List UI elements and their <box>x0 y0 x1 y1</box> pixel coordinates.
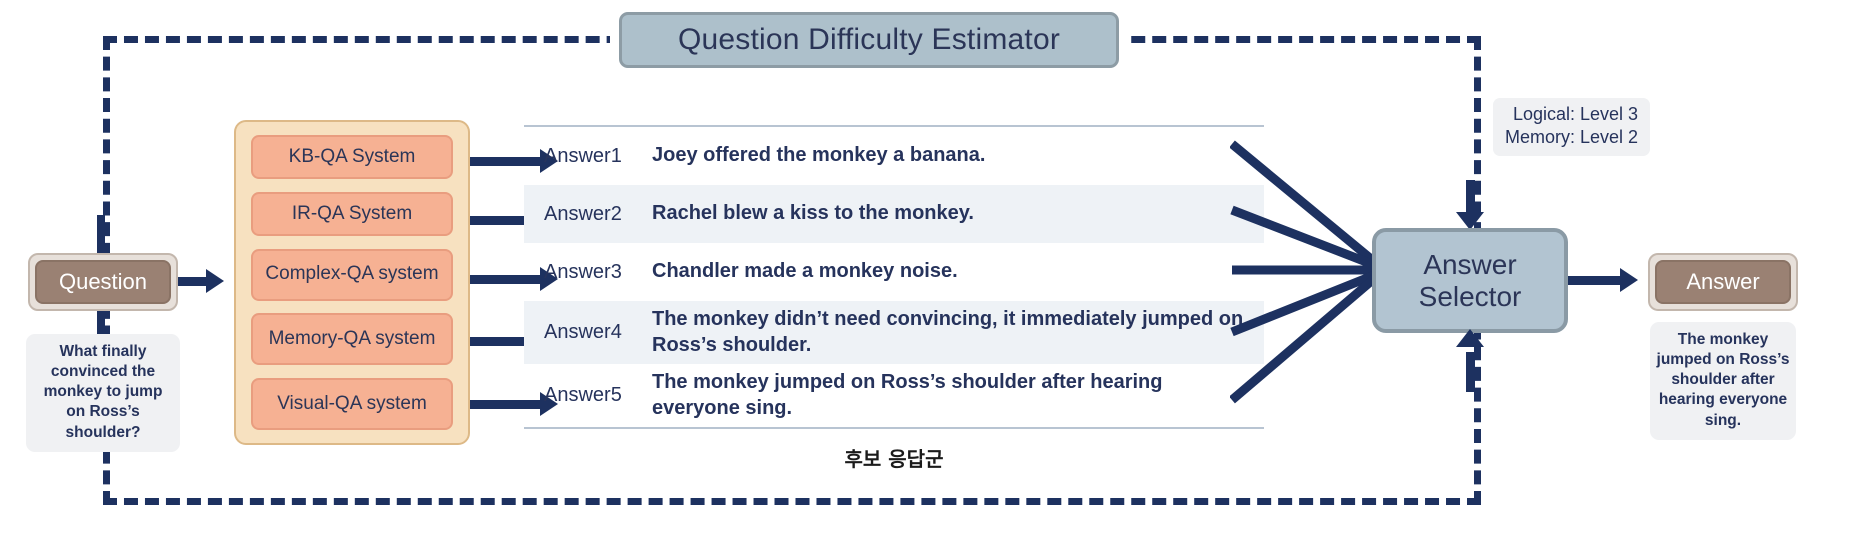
table-row[interactable]: Answer2 Rachel blew a kiss to the monkey… <box>524 185 1264 243</box>
answer-id: Answer1 <box>524 145 652 168</box>
converge-line-4 <box>1232 272 1382 332</box>
answer-text-callout: The monkey jumped on Ross’s shoulder aft… <box>1650 322 1796 440</box>
qa-system-ir[interactable]: IR-QA System <box>251 192 453 236</box>
difficulty-level-badge: Logical: Level 3 Memory: Level 2 <box>1493 98 1650 156</box>
question-text-callout: What finally convinced the monkey to jum… <box>26 334 180 452</box>
qa-system-complex[interactable]: Complex-QA system <box>251 249 453 301</box>
arrow-selector-to-answer-head <box>1620 268 1638 292</box>
table-row[interactable]: Answer1 Joey offered the monkey a banana… <box>524 127 1264 185</box>
answer-text: The monkey jumped on Ross’s shoulder aft… <box>652 370 1264 421</box>
page-title: Question Difficulty Estimator <box>678 23 1060 57</box>
answer-id: Answer2 <box>524 203 652 226</box>
answer-selector-label-line1: Answer <box>1423 249 1516 281</box>
converge-line-1 <box>1232 144 1382 268</box>
converge-line-2 <box>1232 210 1382 268</box>
arrow-question-to-systems-head <box>206 269 224 293</box>
table-rule-bottom <box>524 427 1264 429</box>
difficulty-memory-level: Memory: Level 2 <box>1505 126 1638 149</box>
converge-line-5 <box>1232 272 1382 400</box>
candidate-answers-table: Answer1 Joey offered the monkey a banana… <box>524 125 1264 429</box>
qa-system-visual[interactable]: Visual-QA system <box>251 378 453 430</box>
answer-text: Chandler made a monkey noise. <box>652 259 1264 285</box>
answer-text: Rachel blew a kiss to the monkey. <box>652 201 1264 227</box>
answer-id: Answer4 <box>524 321 652 344</box>
answer-selector-node[interactable]: Answer Selector <box>1372 228 1568 333</box>
qa-systems-bank: KB-QA System IR-QA System Complex-QA sys… <box>234 120 470 445</box>
difficulty-logical-level: Logical: Level 3 <box>1505 103 1638 126</box>
question-connector-top <box>97 215 105 253</box>
answer-id: Answer5 <box>524 384 652 407</box>
qa-system-kb[interactable]: KB-QA System <box>251 135 453 179</box>
answer-selector-label-line2: Selector <box>1419 281 1522 313</box>
candidate-answers-caption: 후보 응답군 <box>524 443 1264 472</box>
answer-node-label: Answer <box>1655 260 1791 304</box>
arrow-frame-to-selector-shaft <box>1466 352 1475 392</box>
diagram-canvas: Question Difficulty Estimator Question W… <box>0 0 1849 548</box>
table-row[interactable]: Answer3 Chandler made a monkey noise. <box>524 243 1264 301</box>
question-node[interactable]: Question <box>28 253 178 311</box>
arrow-estimator-to-selector-shaft <box>1466 180 1475 216</box>
question-node-label: Question <box>35 260 171 304</box>
answer-text: Joey offered the monkey a banana. <box>652 143 1264 169</box>
arrow-frame-to-selector-head <box>1456 329 1484 347</box>
answer-id: Answer3 <box>524 261 652 284</box>
diagram-title-box: Question Difficulty Estimator <box>619 12 1119 68</box>
answer-text: The monkey didn’t need convincing, it im… <box>652 307 1264 358</box>
table-row[interactable]: Answer5 The monkey jumped on Ross’s shou… <box>524 364 1264 427</box>
qa-system-memory[interactable]: Memory-QA system <box>251 313 453 365</box>
answer-node[interactable]: Answer <box>1648 253 1798 311</box>
question-connector-bottom <box>97 311 105 335</box>
table-row[interactable]: Answer4 The monkey didn’t need convincin… <box>524 301 1264 364</box>
arrow-selector-to-answer-shaft <box>1568 276 1624 285</box>
